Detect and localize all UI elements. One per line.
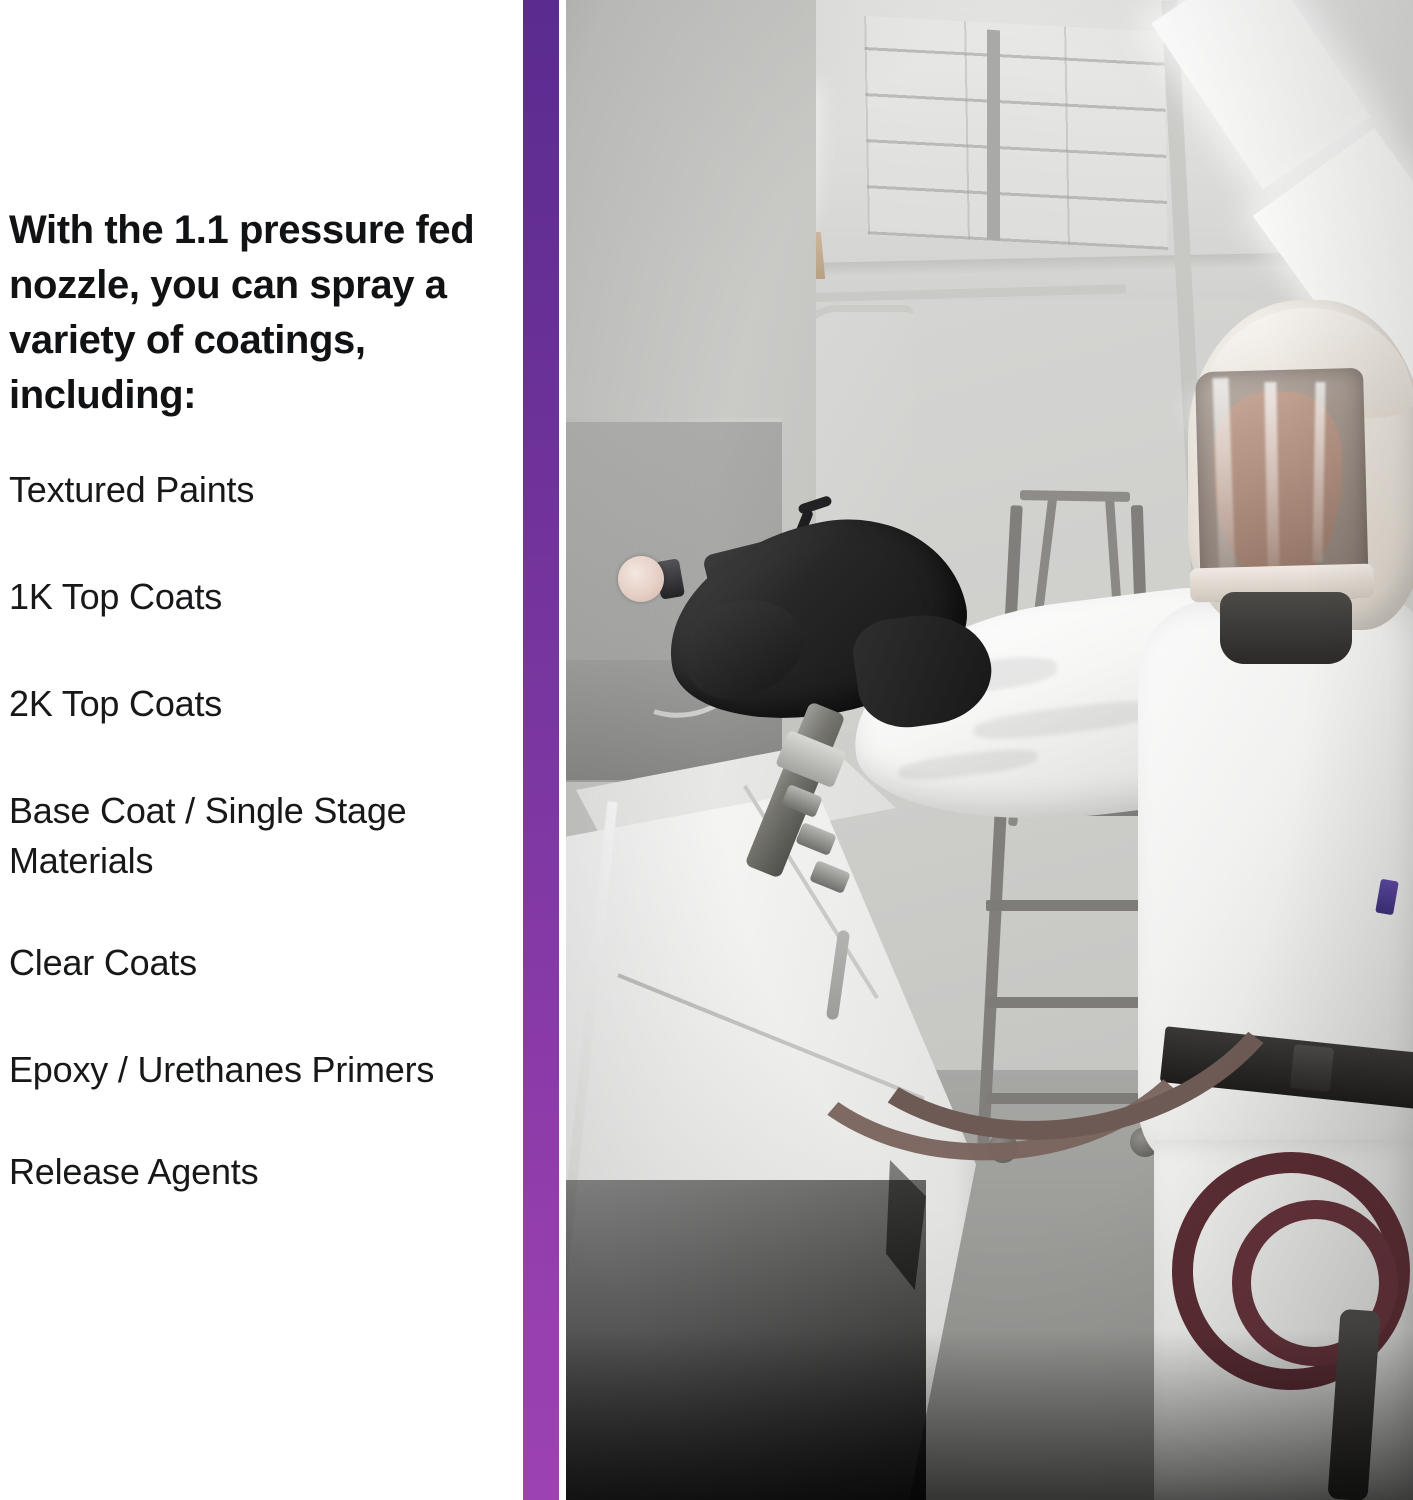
- photo-inner: [566, 0, 1413, 1500]
- divider-region: [523, 0, 566, 1500]
- spray-booth-photo: [566, 0, 1413, 1500]
- ceiling-filter-grid-icon: [864, 16, 1168, 250]
- fabric-fold: [972, 695, 1164, 744]
- bottom-shadow: [566, 1330, 1413, 1500]
- filter-rail: [987, 30, 1000, 241]
- belt-buckle: [1290, 1044, 1334, 1092]
- list-item: Epoxy / Urethanes Primers: [9, 1045, 479, 1095]
- list-item: Release Agents: [9, 1147, 479, 1197]
- list-item: 2K Top Coats: [9, 679, 479, 729]
- text-panel: With the 1.1 pressure fed nozzle, you ca…: [0, 0, 523, 1500]
- page-title: With the 1.1 pressure fed nozzle, you ca…: [9, 203, 489, 423]
- ladder-top-cap: [1020, 490, 1130, 502]
- hood-neck-seal: [1220, 592, 1352, 664]
- purple-gradient-divider: [523, 0, 559, 1500]
- list-item: Textured Paints: [9, 465, 479, 515]
- page-root: With the 1.1 pressure fed nozzle, you ca…: [0, 0, 1413, 1500]
- list-item: Clear Coats: [9, 938, 479, 988]
- coatings-list: Textured Paints 1K Top Coats 2K Top Coat…: [9, 465, 479, 1197]
- list-item: Base Coat / Single Stage Materials: [9, 786, 479, 886]
- list-item: 1K Top Coats: [9, 572, 479, 622]
